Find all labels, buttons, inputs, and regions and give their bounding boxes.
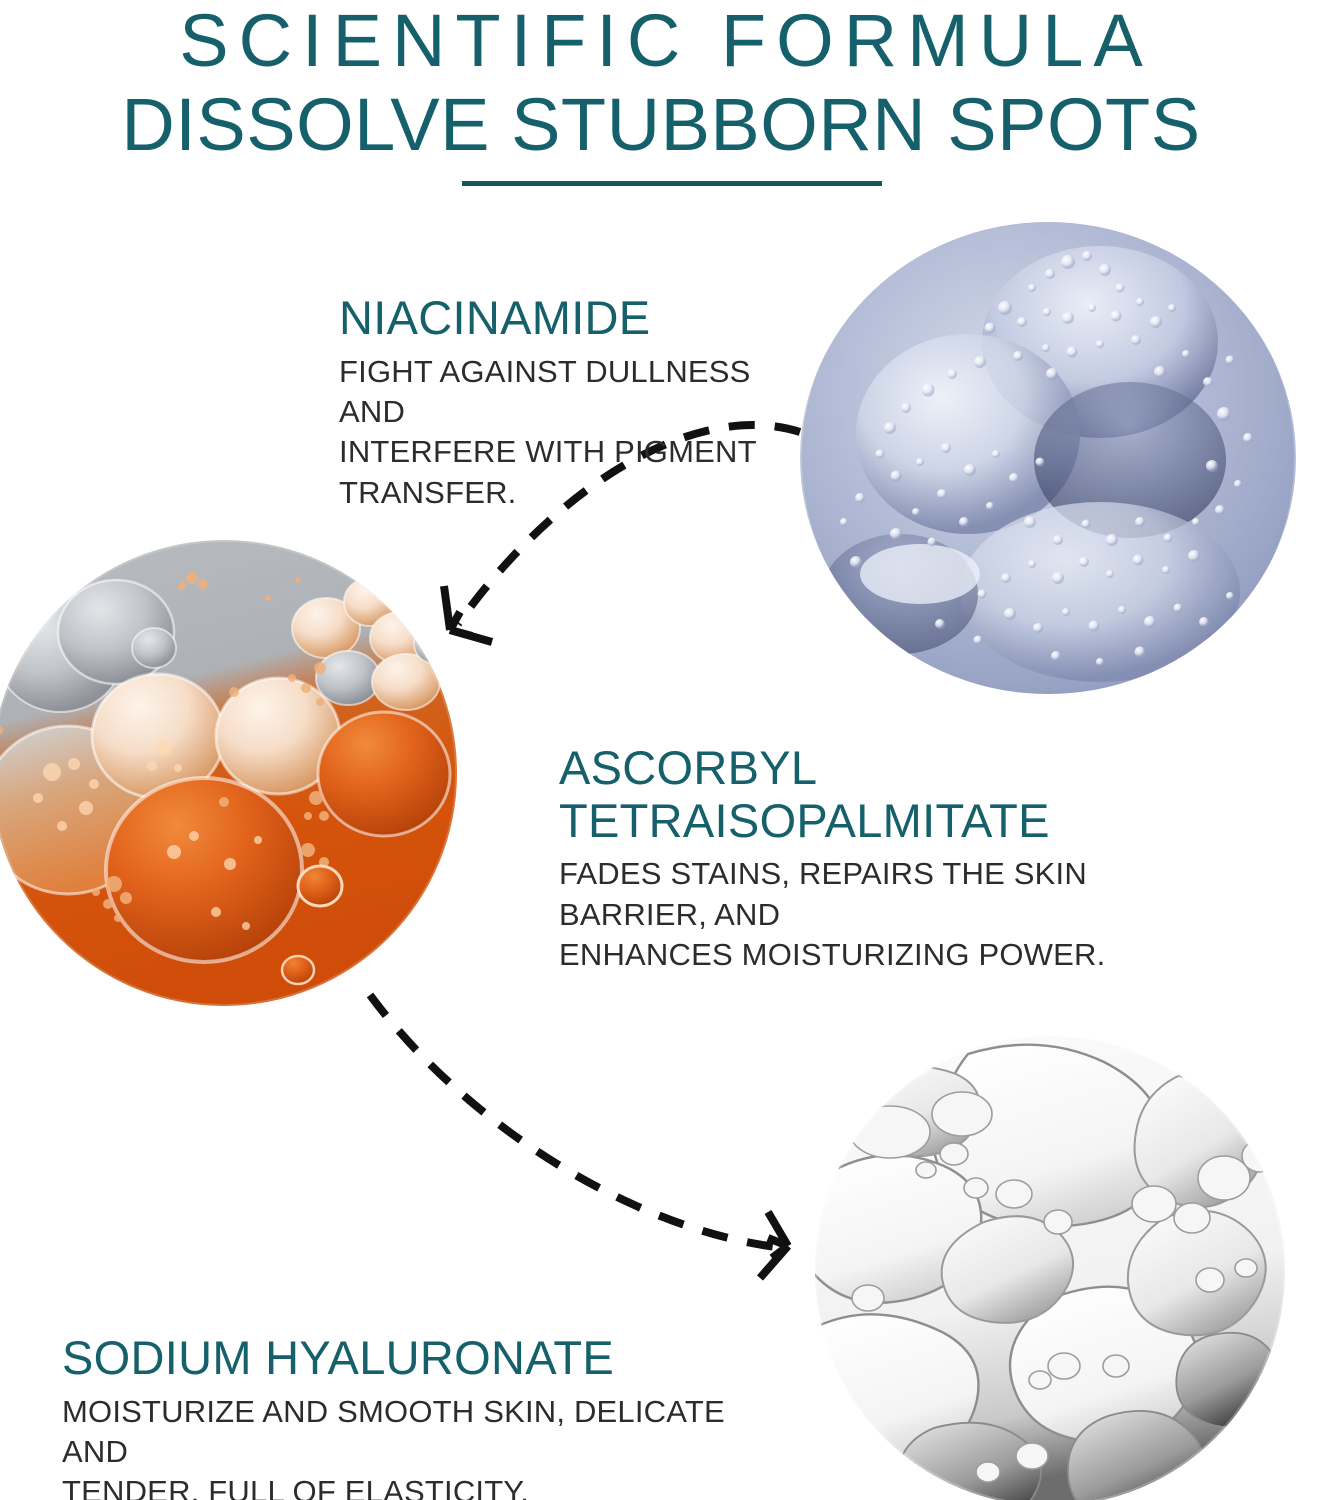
- arrow-oil-to-foam: [370, 995, 784, 1248]
- arrowhead-to-oil-circle: [444, 586, 492, 642]
- arrowhead-to-foam-circle: [760, 1212, 788, 1278]
- ingredient-name-niacinamide: NIACINAMIDE: [339, 292, 809, 345]
- ingredient-block-sodium-hyaluronate: SODIUM HYALURONATE MOISTURIZE AND SMOOTH…: [62, 1332, 792, 1500]
- ingredient-block-niacinamide: NIACINAMIDE FIGHT AGAINST DULLNESS AND I…: [339, 292, 809, 513]
- ingredient-description-sodium-hyaluronate: MOISTURIZE AND SMOOTH SKIN, DELICATE AND…: [62, 1392, 792, 1500]
- headline-divider: [462, 181, 882, 186]
- effervescent-bubbles-photo: [800, 222, 1296, 694]
- headline-block: SCIENTIFIC FORMULA DISSOLVE STUBBORN SPO…: [0, 4, 1322, 162]
- ingredient-block-ascorbyl-tetraisopalmitate: ASCORBYL TETRAISOPALMITATE FADES STAINS,…: [559, 742, 1219, 975]
- headline-line-1: SCIENTIFIC FORMULA: [10, 4, 1322, 78]
- foam-bubbles-photo: [808, 1036, 1292, 1500]
- ingredient-description-ascorbyl-tetraisopalmitate: FADES STAINS, REPAIRS THE SKIN BARRIER, …: [559, 854, 1219, 975]
- ingredient-description-niacinamide: FIGHT AGAINST DULLNESS AND INTERFERE WIT…: [339, 352, 809, 513]
- oil-droplets-photo: [0, 540, 480, 1006]
- ingredient-name-ascorbyl-tetraisopalmitate: ASCORBYL TETRAISOPALMITATE: [559, 742, 1219, 847]
- infographic-page: SCIENTIFIC FORMULA DISSOLVE STUBBORN SPO…: [0, 0, 1322, 1500]
- headline-line-2: DISSOLVE STUBBORN SPOTS: [0, 88, 1322, 162]
- ingredient-name-sodium-hyaluronate: SODIUM HYALURONATE: [62, 1332, 792, 1385]
